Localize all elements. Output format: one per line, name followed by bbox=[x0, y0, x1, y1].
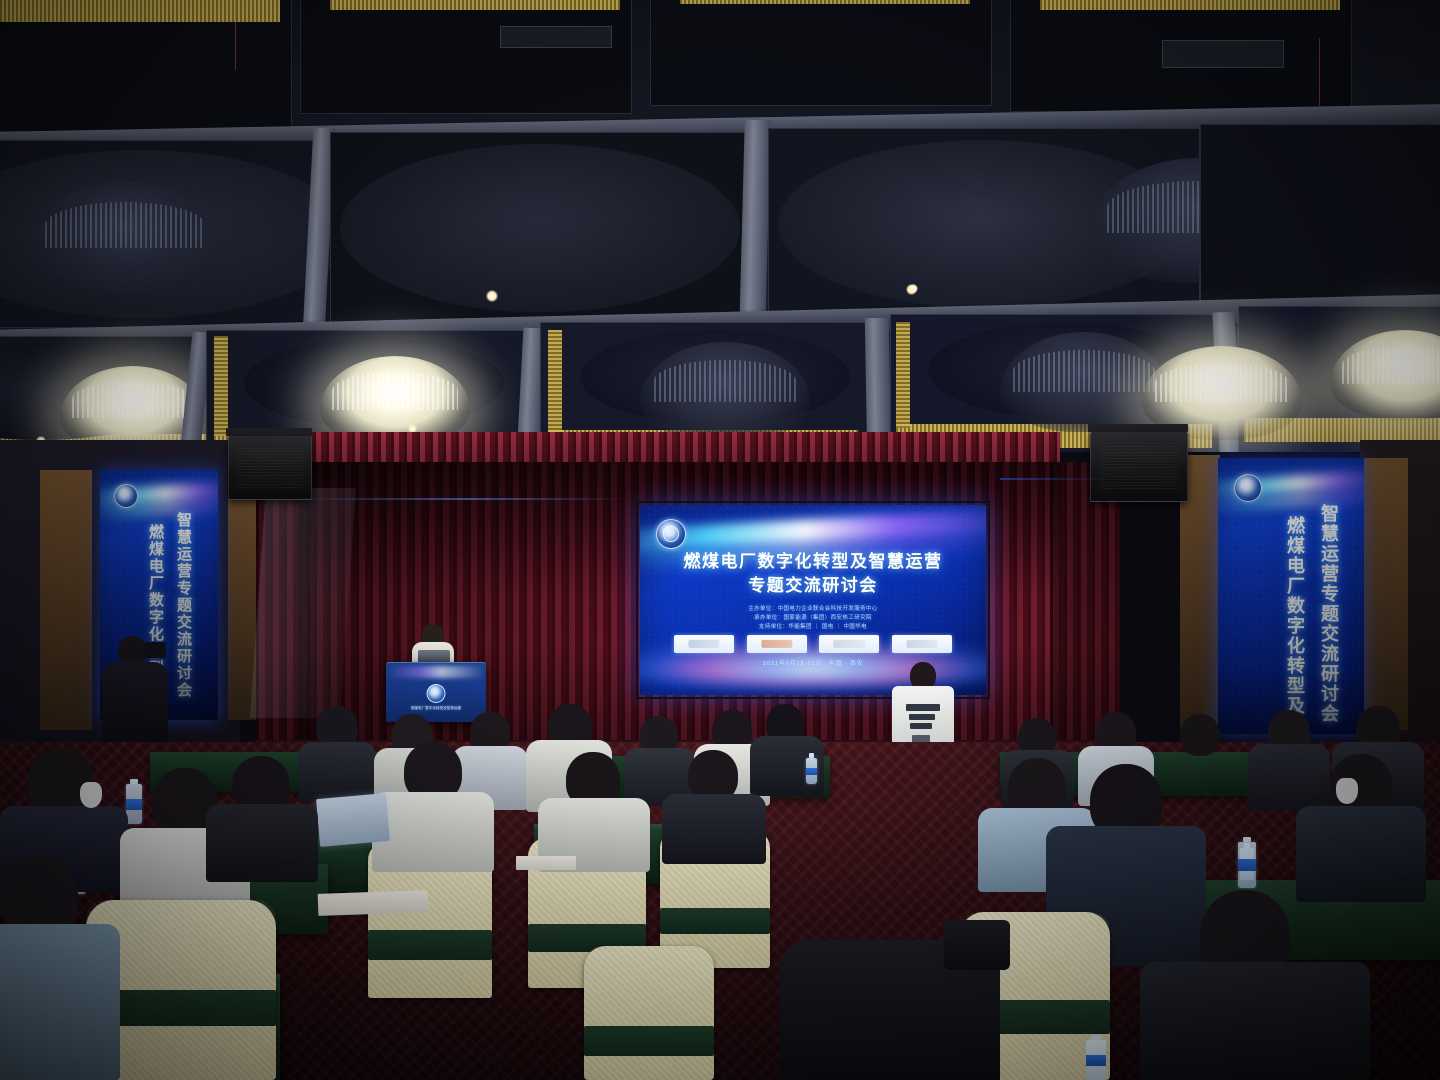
speaker-mount-bar bbox=[1088, 424, 1188, 432]
notebook bbox=[318, 890, 429, 916]
sponsor-logo-1 bbox=[674, 635, 734, 653]
attendee-body bbox=[1296, 806, 1426, 902]
lectern-label: 燃煤电厂数字化转型及智慧运营 bbox=[386, 706, 486, 711]
photographer-camera bbox=[144, 642, 166, 658]
ceiling bbox=[0, 0, 1440, 452]
attendee-body bbox=[206, 804, 318, 882]
sponsor-logo-4 bbox=[892, 635, 952, 653]
sponsor-logo-2 bbox=[747, 635, 807, 653]
sponsor-logo-3 bbox=[819, 635, 879, 653]
lectern-light-swoosh bbox=[386, 666, 486, 678]
water-bottle bbox=[126, 784, 142, 824]
chair-sash bbox=[660, 908, 770, 934]
banner-left-column-right: 智慧运营专题交流研讨会 bbox=[173, 512, 194, 699]
water-bottle bbox=[806, 758, 817, 784]
stage-curtain-left-wing bbox=[256, 470, 310, 758]
hanging-wire bbox=[1319, 38, 1320, 106]
pa-speaker-right bbox=[1090, 432, 1188, 502]
shirt-print-line1 bbox=[906, 704, 940, 711]
hanging-wire bbox=[235, 0, 236, 70]
lectern: 燃煤电厂数字化转型及智慧运营 bbox=[386, 662, 486, 722]
attendee-body bbox=[298, 742, 376, 802]
equipment-bag bbox=[944, 920, 1010, 970]
ceiling-vent bbox=[1162, 40, 1284, 68]
paper-sheet bbox=[516, 856, 576, 870]
attendee-laptop bbox=[316, 793, 390, 847]
chair-sash bbox=[584, 1026, 714, 1056]
attendee-body bbox=[1162, 748, 1240, 810]
attendee-body bbox=[1140, 962, 1370, 1080]
attendee-body bbox=[662, 794, 766, 864]
screen-subtitle-line3: 支持单位：华能集团 ｜ 国电 ｜ 中国华电 bbox=[660, 623, 966, 631]
banquet-chair bbox=[584, 946, 714, 1080]
photographer-body bbox=[102, 662, 168, 746]
pa-speaker-left bbox=[228, 436, 312, 500]
association-emblem bbox=[114, 484, 138, 508]
attendee-body bbox=[0, 924, 120, 1080]
attendee-body bbox=[1248, 744, 1330, 810]
speaker-mount-bar bbox=[226, 428, 312, 436]
water-bottle bbox=[1086, 1040, 1106, 1080]
shirt-print-line3 bbox=[910, 723, 932, 729]
wall-wood-panel bbox=[40, 470, 92, 730]
banner-right-column-left: 燃煤电厂数字化转型及 bbox=[1282, 516, 1308, 716]
screen-subtitle-line2: 承办单位：国家能源（集团）西安热工研究院 bbox=[660, 614, 966, 622]
association-emblem bbox=[656, 519, 686, 549]
screen-title-line1: 燃煤电厂数字化转型及智慧运营 bbox=[652, 551, 974, 572]
shirt-print-line2 bbox=[909, 714, 935, 720]
banner-right-column-right: 智慧运营专题交流研讨会 bbox=[1316, 504, 1342, 724]
conference-hall-photo: 燃煤电厂数字化转型及智慧运营 专题交流研讨会 主办单位：中国电力企业联合会科技开… bbox=[0, 0, 1440, 1080]
screen-subtitle-line1: 主办单位：中国电力企业联合会科技开发服务中心 bbox=[660, 605, 966, 613]
banner-right: 智慧运营专题交流研讨会 燃煤电厂数字化转型及 bbox=[1218, 458, 1364, 734]
face-mask bbox=[1336, 778, 1358, 804]
photographer bbox=[100, 636, 170, 746]
chair-sash bbox=[368, 930, 492, 960]
association-emblem bbox=[427, 684, 446, 703]
association-emblem bbox=[1234, 474, 1262, 502]
sponsor-logo-row bbox=[674, 635, 952, 653]
wall-wood-panel bbox=[1364, 458, 1408, 730]
screen-title-line2: 专题交流研讨会 bbox=[652, 575, 974, 596]
ceiling-spotlight bbox=[909, 284, 918, 293]
face-mask bbox=[80, 782, 102, 808]
attendee-body bbox=[372, 792, 494, 872]
ceiling-spotlight bbox=[486, 290, 498, 302]
water-bottle bbox=[1238, 842, 1256, 888]
ceiling-vent bbox=[500, 26, 612, 48]
